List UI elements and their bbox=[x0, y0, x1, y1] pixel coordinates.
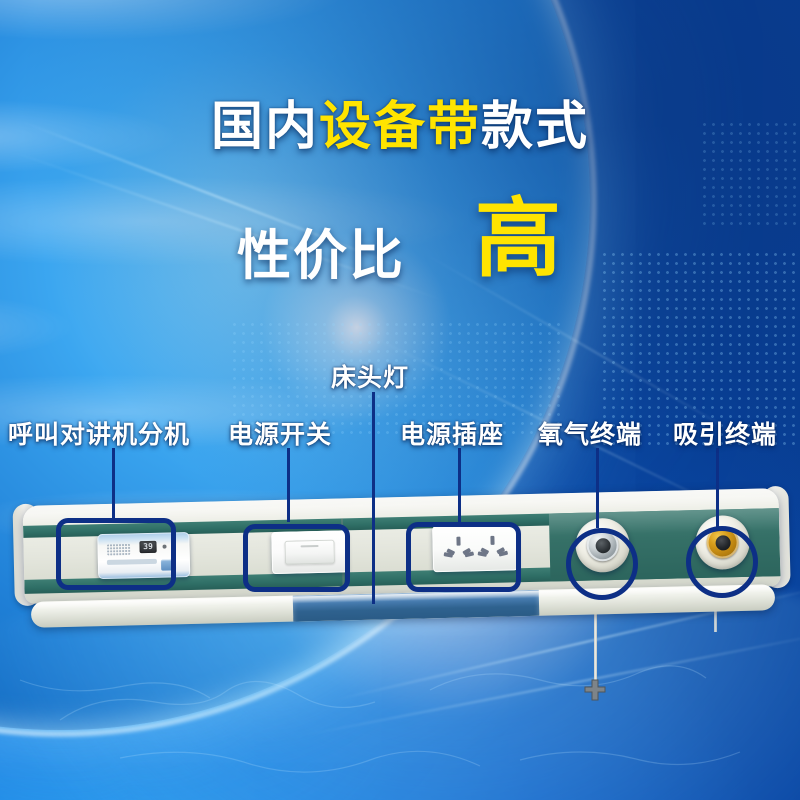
cord-pull-handle-icon[interactable] bbox=[582, 678, 608, 704]
leader-line-suction-terminal bbox=[716, 448, 719, 530]
subtitle-emphasis: 高 bbox=[475, 168, 563, 293]
subtitle-text: 性价比 bbox=[237, 211, 405, 290]
callout-label-oxygen-terminal: 氧气终端 bbox=[538, 415, 642, 451]
highlight-box-suction-terminal bbox=[686, 526, 758, 598]
callout-label-power-switch: 电源开关 bbox=[228, 415, 332, 451]
leader-line-call-intercom bbox=[112, 448, 115, 520]
leader-line-oxygen-terminal bbox=[596, 448, 599, 528]
callout-label-call-intercom: 呼叫对讲机分机 bbox=[8, 415, 190, 451]
callout-label-bedside-lamp: 床头灯 bbox=[331, 358, 409, 394]
highlight-box-power-switch bbox=[243, 524, 350, 592]
highlight-box-call-intercom bbox=[56, 518, 176, 590]
title-prefix: 国内 bbox=[211, 98, 319, 156]
title-accent: 设备带 bbox=[319, 98, 481, 156]
leader-line-power-socket bbox=[458, 448, 461, 524]
callout-label-suction-terminal: 吸引终端 bbox=[673, 415, 777, 451]
leader-line-bedside-lamp bbox=[372, 392, 375, 604]
highlight-box-oxygen-terminal bbox=[566, 528, 638, 600]
callout-label-power-socket: 电源插座 bbox=[400, 415, 504, 451]
poster-canvas: 国内设备带款式 性价比高 呼叫对讲机分机 电源开关 床头灯 电源插座 氧气终端 … bbox=[0, 0, 800, 800]
leader-line-power-switch bbox=[287, 448, 290, 522]
page-title-line-2: 性价比高 bbox=[0, 168, 800, 293]
page-title-line-1: 国内设备带款式 bbox=[0, 84, 800, 159]
title-suffix: 款式 bbox=[481, 98, 589, 156]
highlight-box-power-socket bbox=[406, 522, 521, 592]
